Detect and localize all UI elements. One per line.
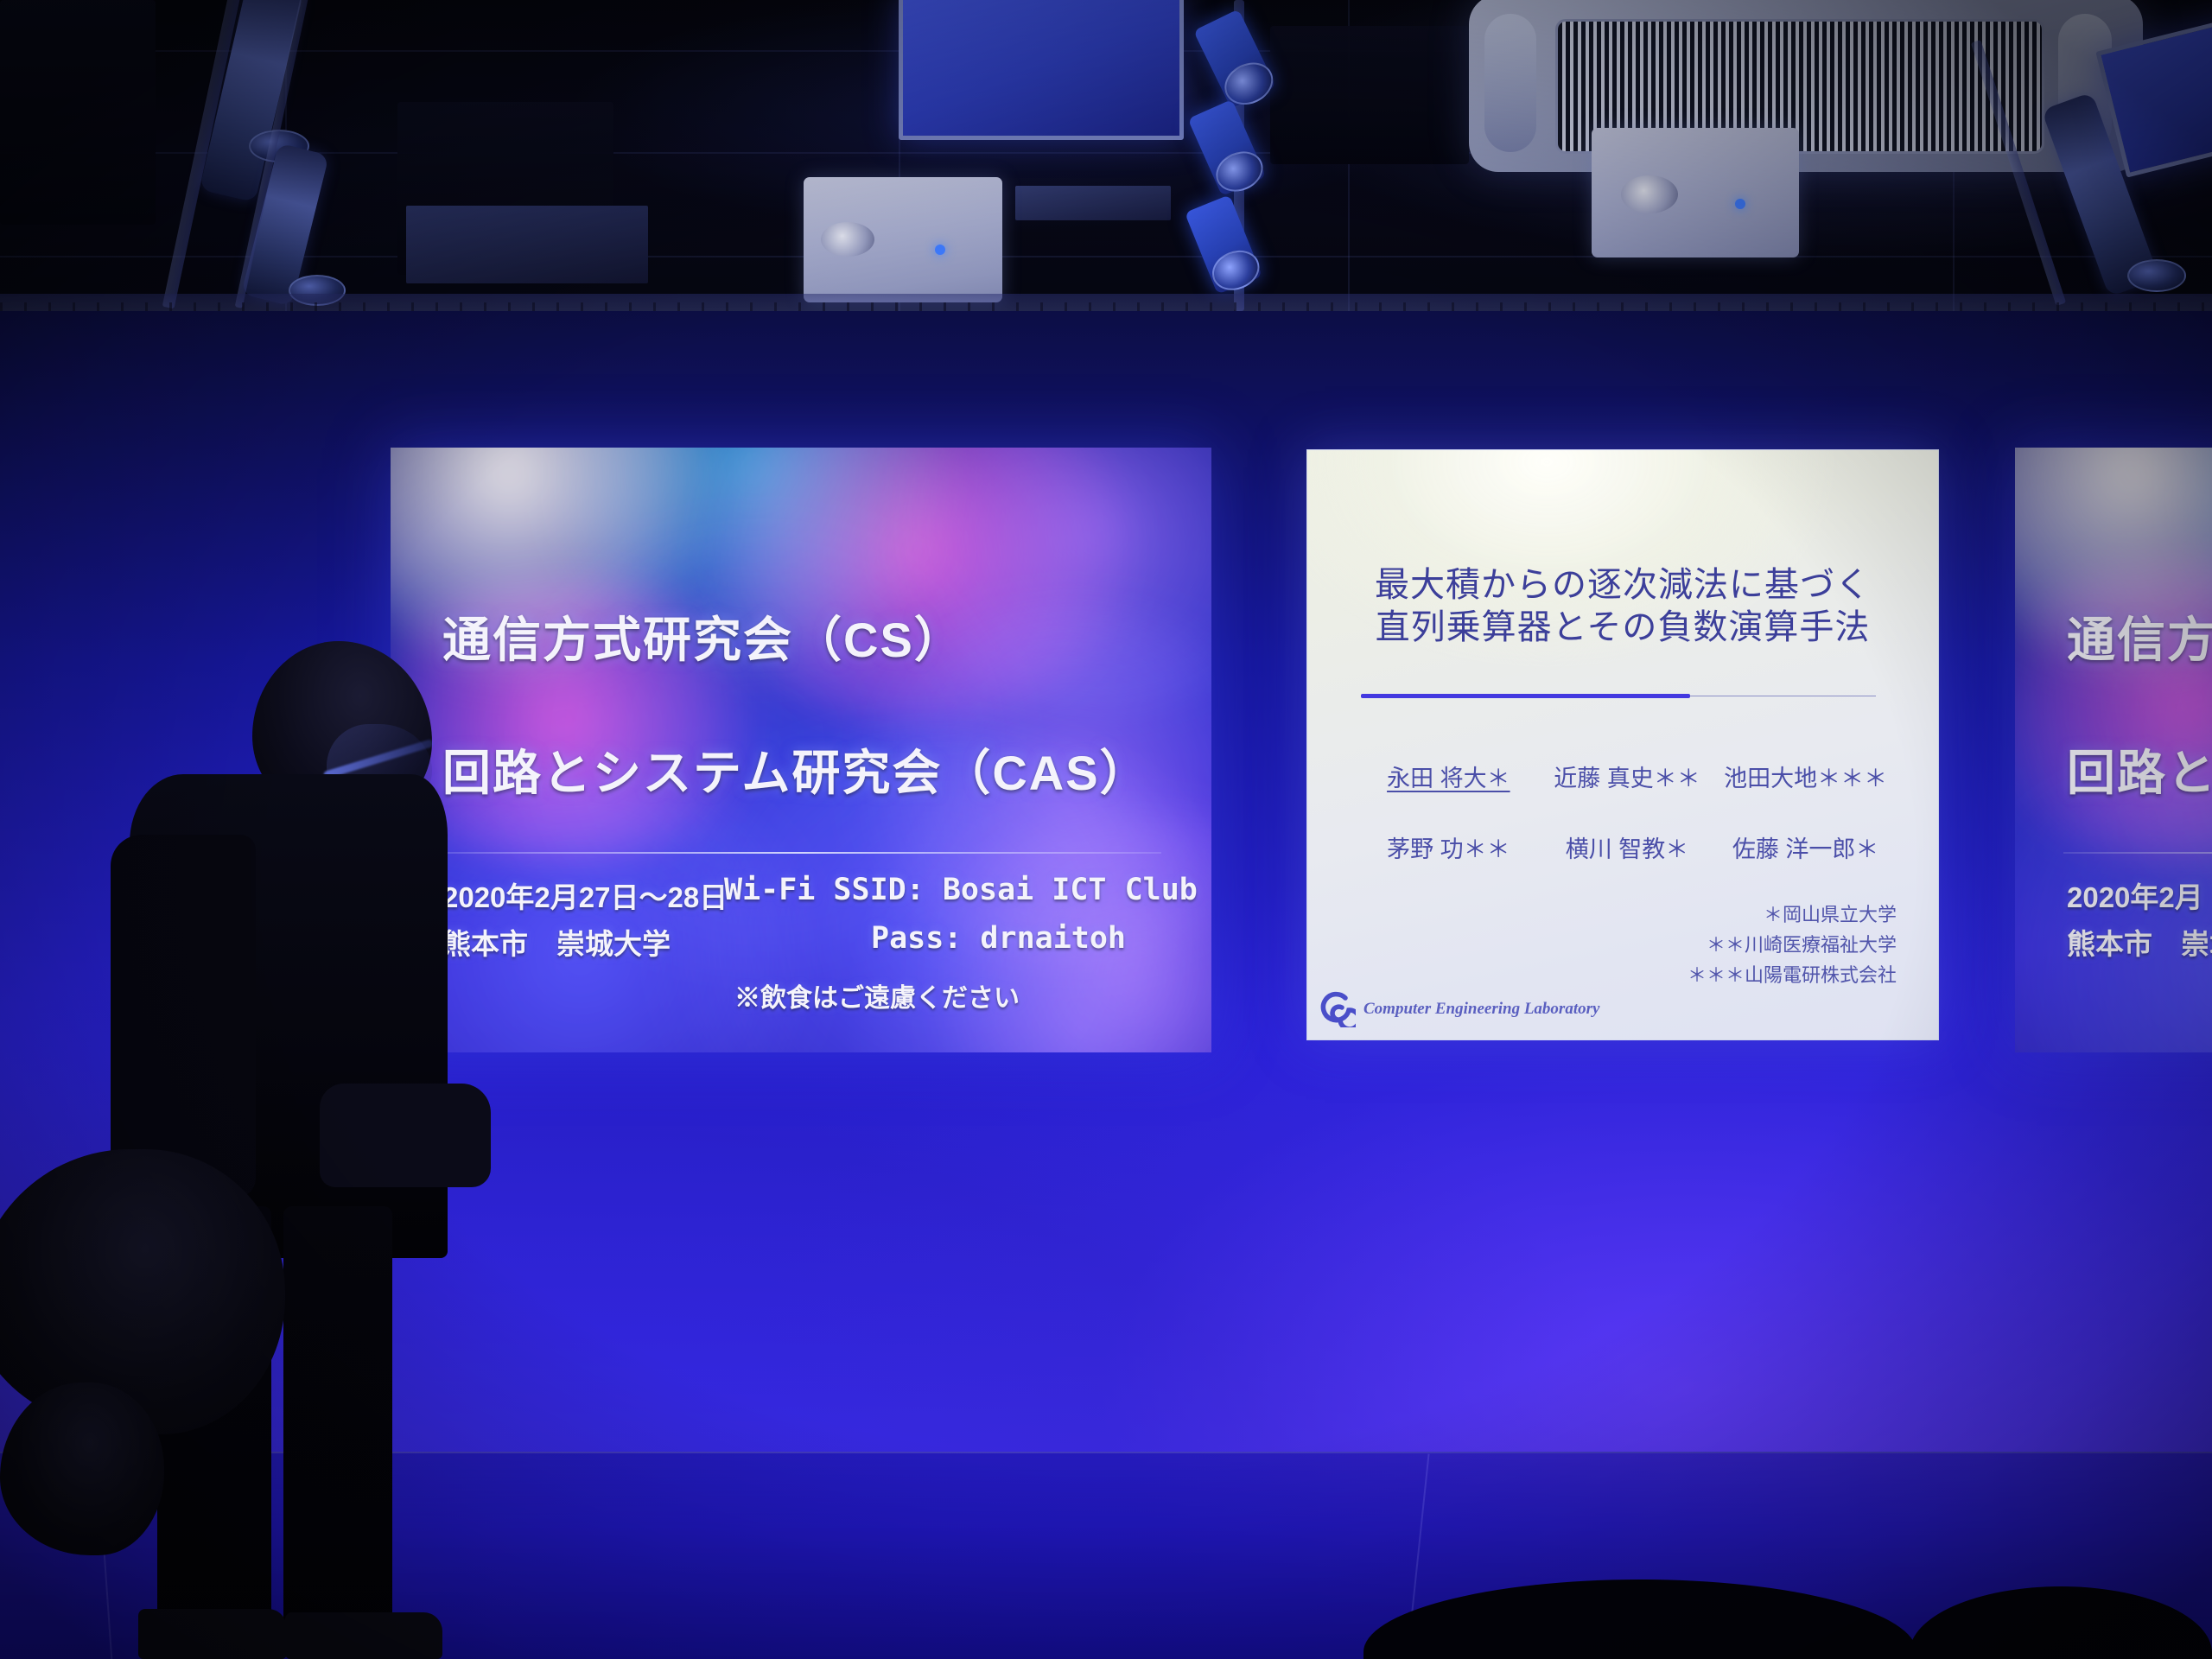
presenter-leg xyxy=(283,1206,392,1656)
slide-right-line2: 回路と xyxy=(2067,734,2212,804)
projector-led xyxy=(935,245,945,255)
ceiling-structure-box xyxy=(0,0,156,225)
lab-logo-text: Computer Engineering Laboratory xyxy=(1363,1000,1599,1019)
ceiling-plate xyxy=(1015,186,1171,220)
ceiling-plate xyxy=(406,206,648,283)
slide-conference-title-left: 通信方式研究会（CS） 回路とシステム研究会（CAS） 2020年2月27日〜2… xyxy=(391,448,1211,1052)
projector-led xyxy=(1735,199,1745,209)
author-name: 近藤 真史＊＊ xyxy=(1538,760,1717,793)
slide-left-date: 2020年2月27日〜28日 xyxy=(442,874,728,916)
projector-lens xyxy=(1621,175,1678,213)
author-row-1: 永田 将大＊ 近藤 真史＊＊ 池田大地＊＊＊ xyxy=(1359,760,1895,793)
ceiling-projector xyxy=(1592,128,1799,257)
author-name: 永田 将大＊ xyxy=(1359,760,1538,793)
slide-left-line1: 通信方式研究会（CS） xyxy=(442,601,964,671)
spotlight-head xyxy=(1206,244,1265,297)
presenter-shoe xyxy=(285,1612,442,1659)
bag-on-floor xyxy=(0,1149,285,1434)
paper-title: 最大積からの逐次減法に基づく 直列乗算器とその負数演算手法 xyxy=(1307,564,1938,649)
author-name: 池田大地＊＊＊ xyxy=(1716,760,1895,793)
slide-left-notice: ※飲食はご遠慮ください xyxy=(734,976,1020,1014)
track-spotlight xyxy=(1193,9,1276,108)
air-conditioner-unit xyxy=(1469,0,2143,172)
projector-lens xyxy=(821,222,874,257)
track-spotlight xyxy=(1185,194,1262,295)
author-row-2: 茅野 功＊＊ 横川 智教＊ 佐藤 洋一郎＊ xyxy=(1359,830,1895,864)
slide-conference-title-right-cropped: 通信方 回路と 2020年2月 熊本市 崇城 xyxy=(2015,448,2212,1052)
presenter-hands xyxy=(320,1084,491,1187)
slide-left-location: 熊本市 崇城大学 xyxy=(442,921,671,963)
presentation-hall-photo: 通信方式研究会（CS） 回路とシステム研究会（CAS） 2020年2月27日〜2… xyxy=(0,0,2212,1659)
slide-right-line1: 通信方 xyxy=(2067,601,2212,671)
author-name: 茅野 功＊＊ xyxy=(1359,830,1538,864)
presenter-arm xyxy=(111,835,256,1198)
ceiling-structure-box xyxy=(1270,26,1469,164)
ceiling-projector xyxy=(804,177,1002,302)
author-name: 佐藤 洋一郎＊ xyxy=(1716,830,1895,864)
slide-right-date: 2020年2月 xyxy=(2067,874,2203,916)
divider-thick xyxy=(1361,694,1690,698)
lab-logo: Computer Engineering Laboratory xyxy=(1319,991,1599,1027)
bag-on-floor xyxy=(0,1382,164,1555)
author-name: 横川 智教＊ xyxy=(1538,830,1717,864)
ac-vane xyxy=(1484,14,1536,152)
affiliation-item: ＊＊＊山陽電研株式会社 xyxy=(1688,960,1897,990)
slide-left-wifi-pass: Pass: drnaitoh xyxy=(871,921,1126,956)
paper-title-line2: 直列乗算器とその負数演算手法 xyxy=(1307,607,1938,649)
slide-right-divider xyxy=(2063,852,2212,854)
duct-opening xyxy=(2127,259,2186,292)
affiliation-item: ＊＊川崎医療福祉大学 xyxy=(1688,930,1897,960)
slide-right-location: 熊本市 崇城 xyxy=(2067,921,2212,963)
slide-left-wifi-ssid: Wi-Fi SSID: Bosai ICT Club xyxy=(724,873,1198,907)
ceiling xyxy=(0,0,2212,346)
paper-title-line1: 最大積からの逐次減法に基づく xyxy=(1307,564,1938,607)
affiliation-item: ＊岡山県立大学 xyxy=(1688,899,1897,930)
presenter-shoe xyxy=(138,1609,287,1659)
ceiling-panel-light xyxy=(899,0,1184,140)
paper-title-divider xyxy=(1361,694,1876,698)
slide-left-line2: 回路とシステム研究会（CAS） xyxy=(442,734,1150,804)
affiliation-list: ＊岡山県立大学 ＊＊川崎医療福祉大学 ＊＊＊山陽電研株式会社 xyxy=(1688,899,1897,991)
spiral-logo-icon xyxy=(1319,991,1356,1027)
slide-left-divider xyxy=(439,852,1161,854)
track-spotlight xyxy=(1187,99,1266,196)
ceiling-grid-line xyxy=(0,256,2212,257)
slide-paper-title: 最大積からの逐次減法に基づく 直列乗算器とその負数演算手法 永田 将大＊ 近藤 … xyxy=(1306,449,1939,1040)
